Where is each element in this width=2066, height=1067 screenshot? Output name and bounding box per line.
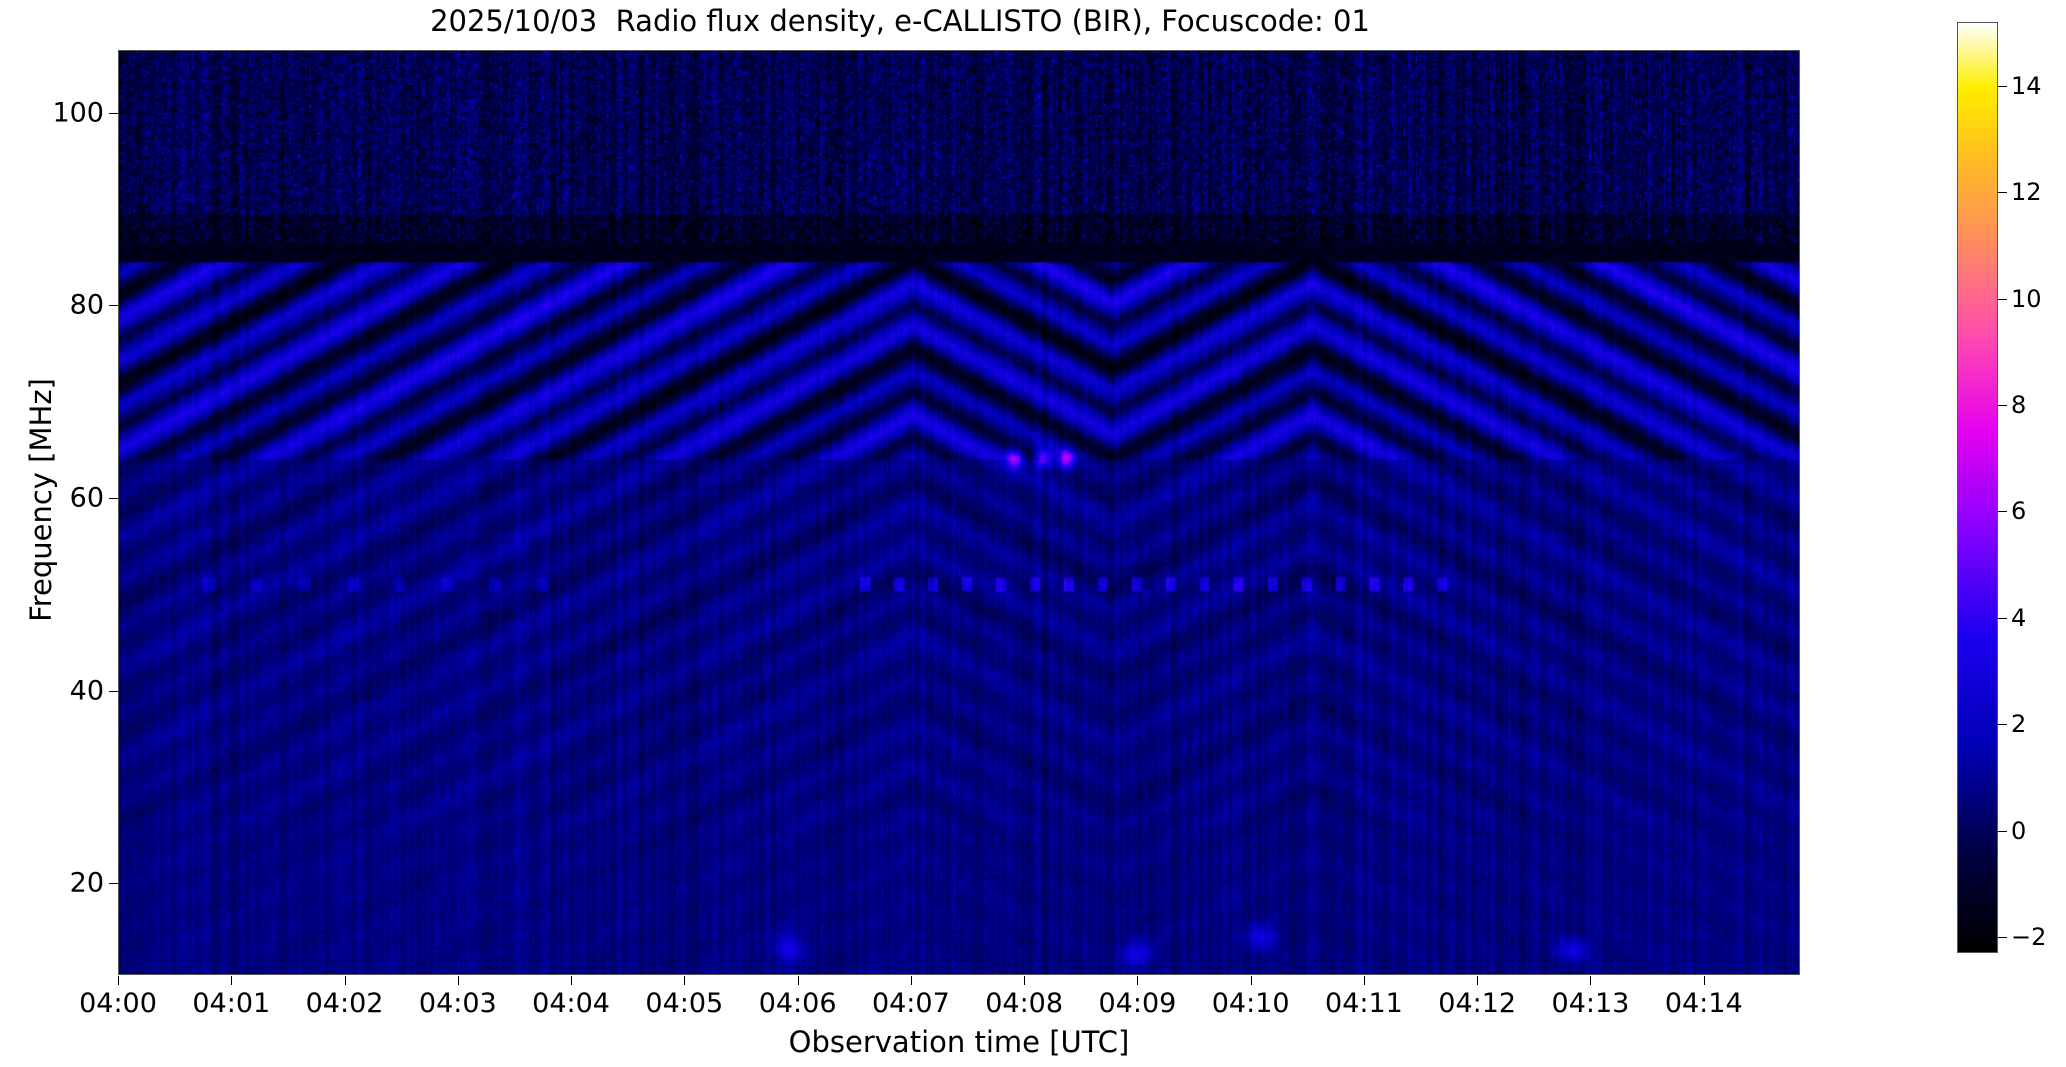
x-axis-label: Observation time [UTC] — [118, 1025, 1800, 1059]
y-tick-label-group: 10080604020 — [0, 0, 104, 1067]
x-tick-label: 04:11 — [1325, 988, 1403, 1019]
colorbar-tick-mark — [1998, 405, 2007, 406]
x-tick-mark — [1024, 976, 1025, 985]
colorbar-tick-label: 6 — [2011, 497, 2026, 525]
x-tick-label: 04:14 — [1665, 988, 1743, 1019]
colorbar-tick-label-group: −202468101214 — [2011, 0, 2066, 1067]
x-tick-mark — [458, 976, 459, 985]
colorbar-tick-mark — [1998, 937, 2007, 938]
x-tick-label: 04:07 — [872, 988, 950, 1019]
colorbar-tick-mark — [1998, 618, 2007, 619]
x-tick-mark — [684, 976, 685, 985]
colorbar-tick-mark — [1998, 192, 2007, 193]
colorbar-tick-label: 4 — [2011, 604, 2026, 632]
y-tick-mark — [109, 691, 118, 692]
colorbar-gradient — [1958, 23, 1997, 952]
x-tick-label: 04:08 — [985, 988, 1063, 1019]
y-tick-mark — [109, 498, 118, 499]
colorbar-tick-mark — [1998, 724, 2007, 725]
x-tick-label: 04:04 — [532, 988, 610, 1019]
spectrogram-axes — [118, 50, 1800, 975]
figure-root: 2025/10/03 Radio flux density, e-CALLIST… — [0, 0, 2066, 1067]
colorbar-tick-mark — [1998, 831, 2007, 832]
colorbar-tick-label: −2 — [2011, 923, 2046, 951]
x-tick-mark — [345, 976, 346, 985]
x-tick-label: 04:09 — [1098, 988, 1176, 1019]
x-tick-label: 04:01 — [192, 988, 270, 1019]
x-tick-label: 04:00 — [79, 988, 157, 1019]
x-tick-mark — [1251, 976, 1252, 985]
colorbar-tick-mark — [1998, 86, 2007, 87]
x-tick-mark — [118, 976, 119, 985]
colorbar-tick-label: 12 — [2011, 178, 2042, 206]
x-tick-mark — [1137, 976, 1138, 985]
x-tick-mark-group — [0, 976, 2066, 986]
y-tick-label: 80 — [70, 290, 104, 321]
x-tick-label: 04:06 — [759, 988, 837, 1019]
x-tick-label: 04:05 — [645, 988, 723, 1019]
colorbar-tick-mark-group — [1998, 0, 2008, 1067]
colorbar-tick-label: 2 — [2011, 710, 2026, 738]
x-tick-mark — [798, 976, 799, 985]
colorbar-tick-label: 0 — [2011, 817, 2026, 845]
colorbar-tick-mark — [1998, 299, 2007, 300]
y-tick-label: 100 — [52, 97, 104, 128]
x-tick-label: 04:10 — [1212, 988, 1290, 1019]
x-tick-mark — [1477, 976, 1478, 985]
x-tick-label-group: 04:0004:0104:0204:0304:0404:0504:0604:07… — [0, 988, 2066, 1028]
x-tick-mark — [1704, 976, 1705, 985]
x-tick-label: 04:03 — [419, 988, 497, 1019]
x-tick-mark — [1590, 976, 1591, 985]
x-tick-mark — [571, 976, 572, 985]
y-tick-label: 40 — [70, 675, 104, 706]
y-tick-label: 20 — [70, 868, 104, 899]
x-tick-label: 04:13 — [1552, 988, 1630, 1019]
x-tick-label: 04:02 — [306, 988, 384, 1019]
x-tick-mark — [231, 976, 232, 985]
colorbar-tick-label: 8 — [2011, 391, 2026, 419]
x-tick-mark — [1364, 976, 1365, 985]
y-tick-mark — [109, 883, 118, 884]
x-tick-label: 04:12 — [1438, 988, 1516, 1019]
x-tick-mark — [911, 976, 912, 985]
colorbar — [1957, 22, 1998, 953]
colorbar-tick-mark — [1998, 511, 2007, 512]
y-tick-mark — [109, 305, 118, 306]
colorbar-tick-label: 14 — [2011, 72, 2042, 100]
spectrogram-heatmap — [119, 51, 1799, 974]
figure-title: 2025/10/03 Radio flux density, e-CALLIST… — [0, 4, 1800, 38]
colorbar-tick-label: 10 — [2011, 285, 2042, 313]
y-tick-label: 60 — [70, 483, 104, 514]
y-tick-mark — [109, 113, 118, 114]
